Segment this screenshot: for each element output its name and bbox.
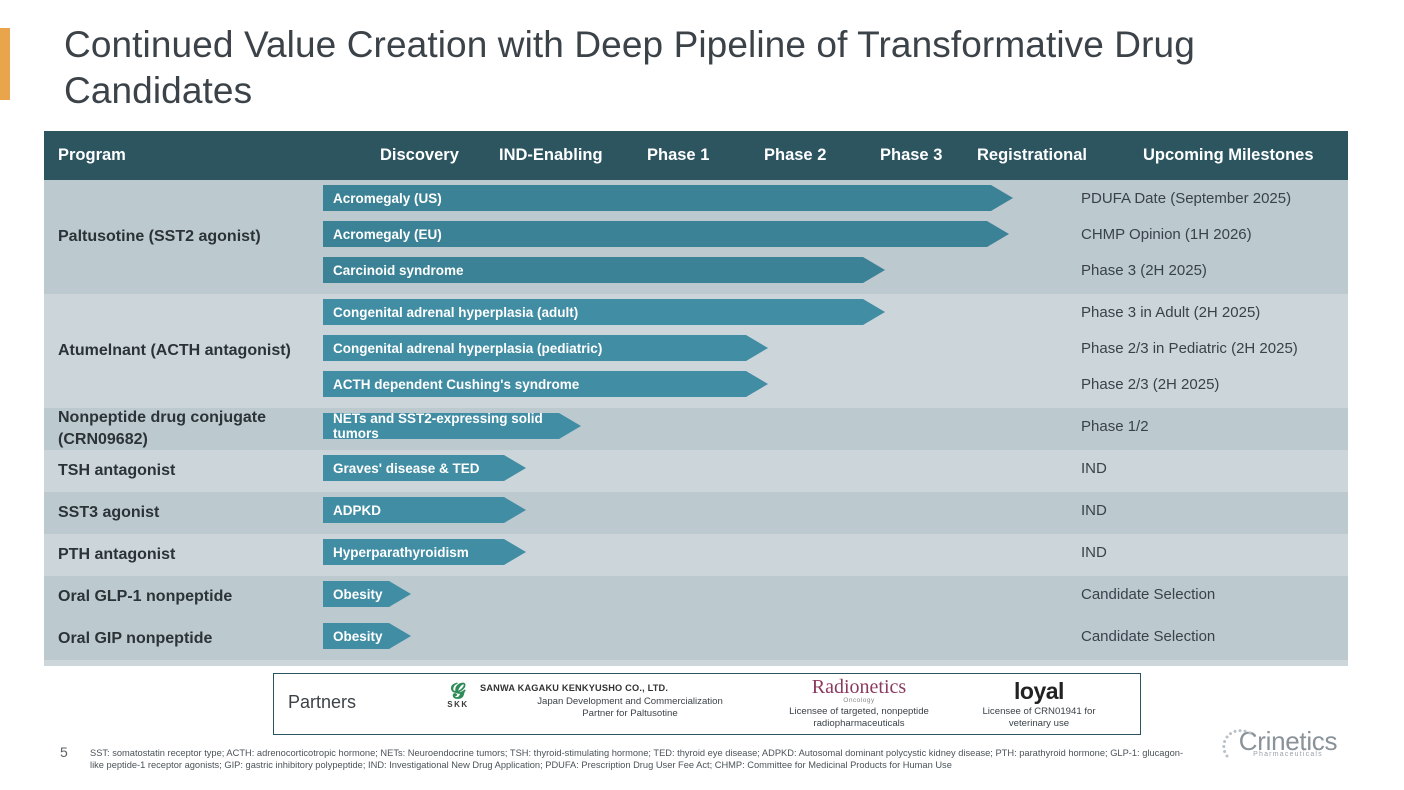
pipeline-bar: Congenital adrenal hyperplasia (pediatri… [323, 335, 768, 361]
pipeline-bar-label: Obesity [333, 629, 383, 644]
partners-label: Partners [288, 692, 356, 713]
program-name: Oral GLP-1 nonpeptide [58, 586, 328, 608]
partner-loyal-desc-2: veterinary use [939, 718, 1139, 730]
column-header-registrational: Registrational [977, 131, 1087, 180]
milestone-text: Candidate Selection [1081, 586, 1215, 603]
table-body: Paltusotine (SST2 agonist)Acromegaly (US… [44, 180, 1348, 660]
column-header-phase-1: Phase 1 [647, 131, 709, 180]
program-name: Oral GIP nonpeptide [58, 628, 328, 650]
partner-skk-desc-1: Japan Development and Commercialization [480, 696, 780, 708]
loyal-logo-icon: loyal [939, 679, 1139, 703]
program-name: Paltusotine (SST2 agonist) [58, 226, 328, 248]
pipeline-bar-label: Acromegaly (US) [333, 191, 442, 206]
skk-logo-icon: 𝓖 SKK [438, 682, 478, 709]
slide-number: 5 [60, 744, 68, 760]
milestone-text: Phase 2/3 (2H 2025) [1081, 376, 1219, 393]
pipeline-bar-label: Hyperparathyroidism [333, 545, 469, 560]
milestone-text: PDUFA Date (September 2025) [1081, 190, 1291, 207]
pipeline-bar-label: Graves' disease & TED [333, 461, 480, 476]
footnote-abbreviations: SST: somatostatin receptor type; ACTH: a… [90, 748, 1185, 771]
partners-box: Partners 𝓖 SKK SANWA KAGAKU KENKYUSHO CO… [273, 673, 1141, 735]
milestone-text: Phase 3 in Adult (2H 2025) [1081, 304, 1260, 321]
pipeline-bar-label: Congenital adrenal hyperplasia (adult) [333, 305, 578, 320]
program-name: TSH antagonist [58, 460, 328, 482]
pipeline-bar-label: NETs and SST2-expressing solid tumors [333, 411, 581, 441]
milestone-text: Phase 2/3 in Pediatric (2H 2025) [1081, 340, 1298, 357]
crinetics-logo: Crinetics Pharmaceuticals [1218, 727, 1358, 758]
milestone-text: Phase 3 (2H 2025) [1081, 262, 1207, 279]
program-name: Nonpeptide drug conjugate (CRN09682) [58, 407, 328, 451]
title-accent-bar [0, 28, 10, 100]
table-header-row: ProgramDiscoveryIND-EnablingPhase 1Phase… [44, 131, 1348, 180]
milestone-text: IND [1081, 502, 1107, 519]
partner-loyal-desc-1: Licensee of CRN01941 for [939, 706, 1139, 718]
milestone-text: IND [1081, 544, 1107, 561]
program-name: Atumelnant (ACTH antagonist) [58, 340, 328, 362]
pipeline-bar: ADPKD [323, 497, 526, 523]
pipeline-bar-label: Acromegaly (EU) [333, 227, 442, 242]
skk-logo-text: SKK [438, 700, 478, 709]
partner-loyal: loyal Licensee of CRN01941 for veterinar… [939, 679, 1139, 730]
pipeline-bar-label: Carcinoid syndrome [333, 263, 464, 278]
pipeline-bar: Acromegaly (EU) [323, 221, 1009, 247]
pipeline-bar: ACTH dependent Cushing's syndrome [323, 371, 768, 397]
column-header-ind-enabling: IND-Enabling [499, 131, 603, 180]
pipeline-bar: Carcinoid syndrome [323, 257, 885, 283]
pipeline-bar: Graves' disease & TED [323, 455, 526, 481]
pipeline-bar: Congenital adrenal hyperplasia (adult) [323, 299, 885, 325]
milestone-text: IND [1081, 460, 1107, 477]
pipeline-table: ProgramDiscoveryIND-EnablingPhase 1Phase… [44, 131, 1348, 666]
milestone-text: CHMP Opinion (1H 2026) [1081, 226, 1252, 243]
milestone-text: Phase 1/2 [1081, 418, 1149, 435]
pipeline-bar: Hyperparathyroidism [323, 539, 526, 565]
column-header-program: Program [58, 131, 126, 180]
column-header-phase-2: Phase 2 [764, 131, 826, 180]
column-header-upcoming-milestones: Upcoming Milestones [1143, 131, 1314, 180]
pipeline-bar: NETs and SST2-expressing solid tumors [323, 413, 581, 439]
milestone-text: Candidate Selection [1081, 628, 1215, 645]
pipeline-bar-label: Obesity [333, 587, 383, 602]
partner-skk: SANWA KAGAKU KENKYUSHO CO., LTD. Japan D… [480, 683, 780, 720]
pipeline-bar-label: ACTH dependent Cushing's syndrome [333, 377, 579, 392]
crinetics-dots-icon [1222, 729, 1256, 759]
column-header-phase-3: Phase 3 [880, 131, 942, 180]
partner-skk-name: SANWA KAGAKU KENKYUSHO CO., LTD. [480, 683, 780, 693]
pipeline-bar: Acromegaly (US) [323, 185, 1013, 211]
pipeline-bar-label: ADPKD [333, 503, 381, 518]
program-name: PTH antagonist [58, 544, 328, 566]
partner-skk-desc-2: Partner for Paltusotine [480, 708, 780, 720]
page-title: Continued Value Creation with Deep Pipel… [64, 22, 1384, 114]
pipeline-bar-label: Congenital adrenal hyperplasia (pediatri… [333, 341, 602, 356]
program-name: SST3 agonist [58, 502, 328, 524]
column-header-discovery: Discovery [380, 131, 459, 180]
